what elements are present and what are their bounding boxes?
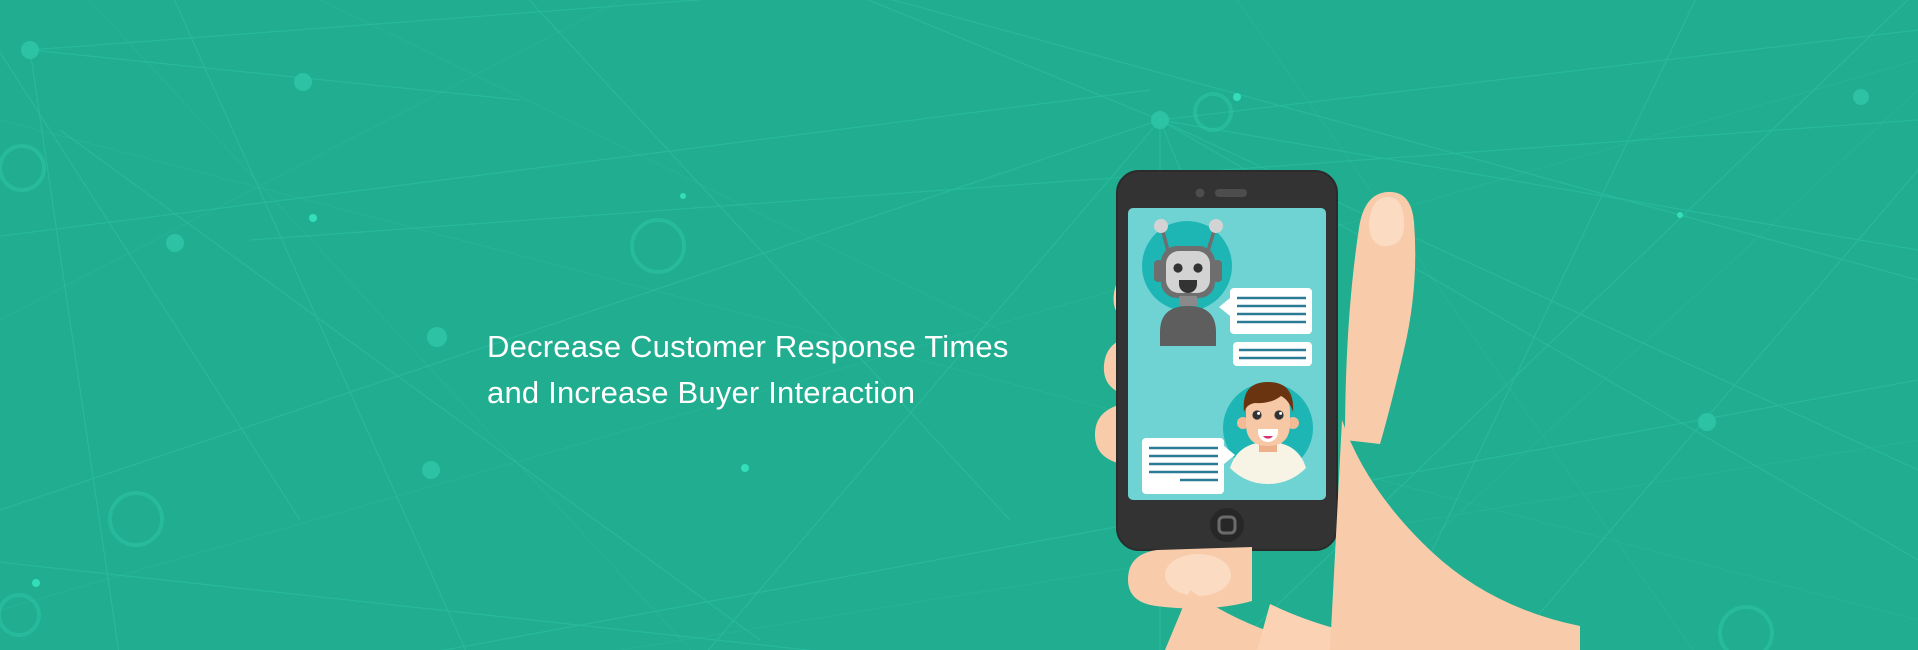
chat-bubble-bot-2 bbox=[1233, 342, 1312, 366]
hand-thumb bbox=[1345, 192, 1415, 444]
chat-bubble-bot-1 bbox=[1219, 288, 1312, 334]
chat-bubble-user-1 bbox=[1142, 438, 1235, 494]
page-title: Decrease Customer Response Times and Inc… bbox=[487, 324, 1107, 416]
smartphone bbox=[1117, 171, 1337, 550]
hero-banner: Decrease Customer Response Times and Inc… bbox=[0, 0, 1918, 650]
phone-home-button[interactable] bbox=[1210, 508, 1244, 542]
person-avatar bbox=[1223, 382, 1313, 484]
phone-camera-icon bbox=[1196, 189, 1205, 198]
headline-line-2: and Increase Buyer Interaction bbox=[487, 370, 1107, 416]
hand-holding-smartphone-illustration bbox=[1020, 120, 1640, 650]
headline-line-1: Decrease Customer Response Times bbox=[487, 324, 1107, 370]
phone-speaker-icon bbox=[1215, 189, 1247, 197]
